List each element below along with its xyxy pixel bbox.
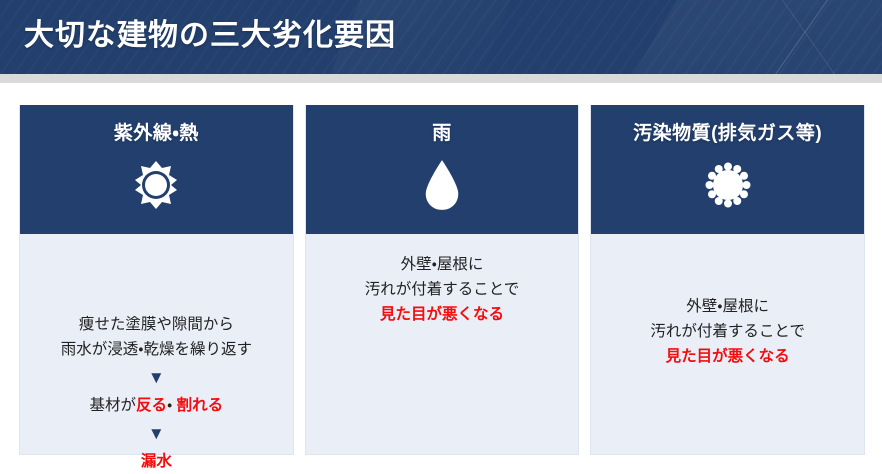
- factor-card-uv-heat: 紫外線・熱 痩せた塗膜や隙間から雨水が浸透・乾燥を繰り返す▼基材が反る・ 割れる…: [19, 105, 294, 455]
- card-text-line: 漏水: [141, 449, 172, 474]
- card-text-line: 外壁・屋根に: [401, 252, 484, 277]
- accent-text: 割れる: [177, 397, 224, 414]
- card-header: 汚染物質(排気ガス等): [591, 105, 864, 234]
- accent-text: 反る: [136, 397, 167, 414]
- card-body: 外壁・屋根に 汚れが付着することで 見た目が悪くなる: [591, 234, 864, 454]
- card-text-line: 汚れが付着することで: [365, 277, 520, 302]
- page-header: 大切な建物の三大劣化要因: [0, 0, 882, 74]
- card-title: 紫外線・熱: [114, 122, 199, 146]
- card-text-line: 基材が反る・ 割れる: [90, 393, 224, 418]
- header-decor-line-left: [761, 0, 877, 74]
- flow-arrow-icon: ▼: [148, 368, 165, 388]
- header-decor-line-right: [732, 0, 842, 74]
- card-body: 外壁・屋根に汚れが付着することで見た目が悪くなる: [306, 234, 579, 454]
- accent-text: 漏水: [141, 453, 172, 470]
- card-text-line: 見た目が悪くなる: [666, 344, 790, 369]
- flow-arrow-icon: ▼: [148, 424, 165, 444]
- card-title: 雨: [432, 122, 452, 146]
- card-text-line: 見た目が悪くなる: [380, 302, 504, 327]
- card-header: 紫外線・熱: [20, 105, 293, 234]
- card-title: 汚染物質(排気ガス等): [633, 122, 822, 146]
- card-text-line: 雨水が浸透・乾燥を繰り返す: [61, 337, 252, 362]
- header-decor-wedge-right: [614, 0, 882, 74]
- factor-card-pollutants: 汚染物質(排気ガス等): [590, 105, 865, 455]
- page-title: 大切な建物の三大劣化要因: [24, 11, 396, 61]
- infographic-root: 大切な建物の三大劣化要因 紫外線・熱 痩せた塗膜や隙間から雨水が浸透・乾燥を繰り…: [0, 0, 882, 466]
- card-body: 痩せた塗膜や隙間から雨水が浸透・乾燥を繰り返す▼基材が反る・ 割れる▼漏水: [20, 234, 293, 474]
- factor-card-rain: 雨 外壁・屋根に汚れが付着することで見た目が悪くなる: [305, 105, 580, 455]
- card-header: 雨: [306, 105, 579, 234]
- factor-card-list: 紫外線・熱 痩せた塗膜や隙間から雨水が浸透・乾燥を繰り返す▼基材が反る・ 割れる…: [19, 105, 865, 455]
- header-underbar: [0, 74, 882, 83]
- sun-icon: [129, 158, 183, 212]
- card-text-line: 痩せた塗膜や隙間から: [79, 312, 234, 337]
- card-text-line: 外壁・屋根に: [686, 294, 769, 319]
- accent-text: 見た目が悪くなる: [380, 306, 504, 323]
- pollutant-icon: [701, 158, 755, 212]
- water-drop-icon: [415, 158, 469, 212]
- card-text-line: 汚れが付着することで: [650, 319, 805, 344]
